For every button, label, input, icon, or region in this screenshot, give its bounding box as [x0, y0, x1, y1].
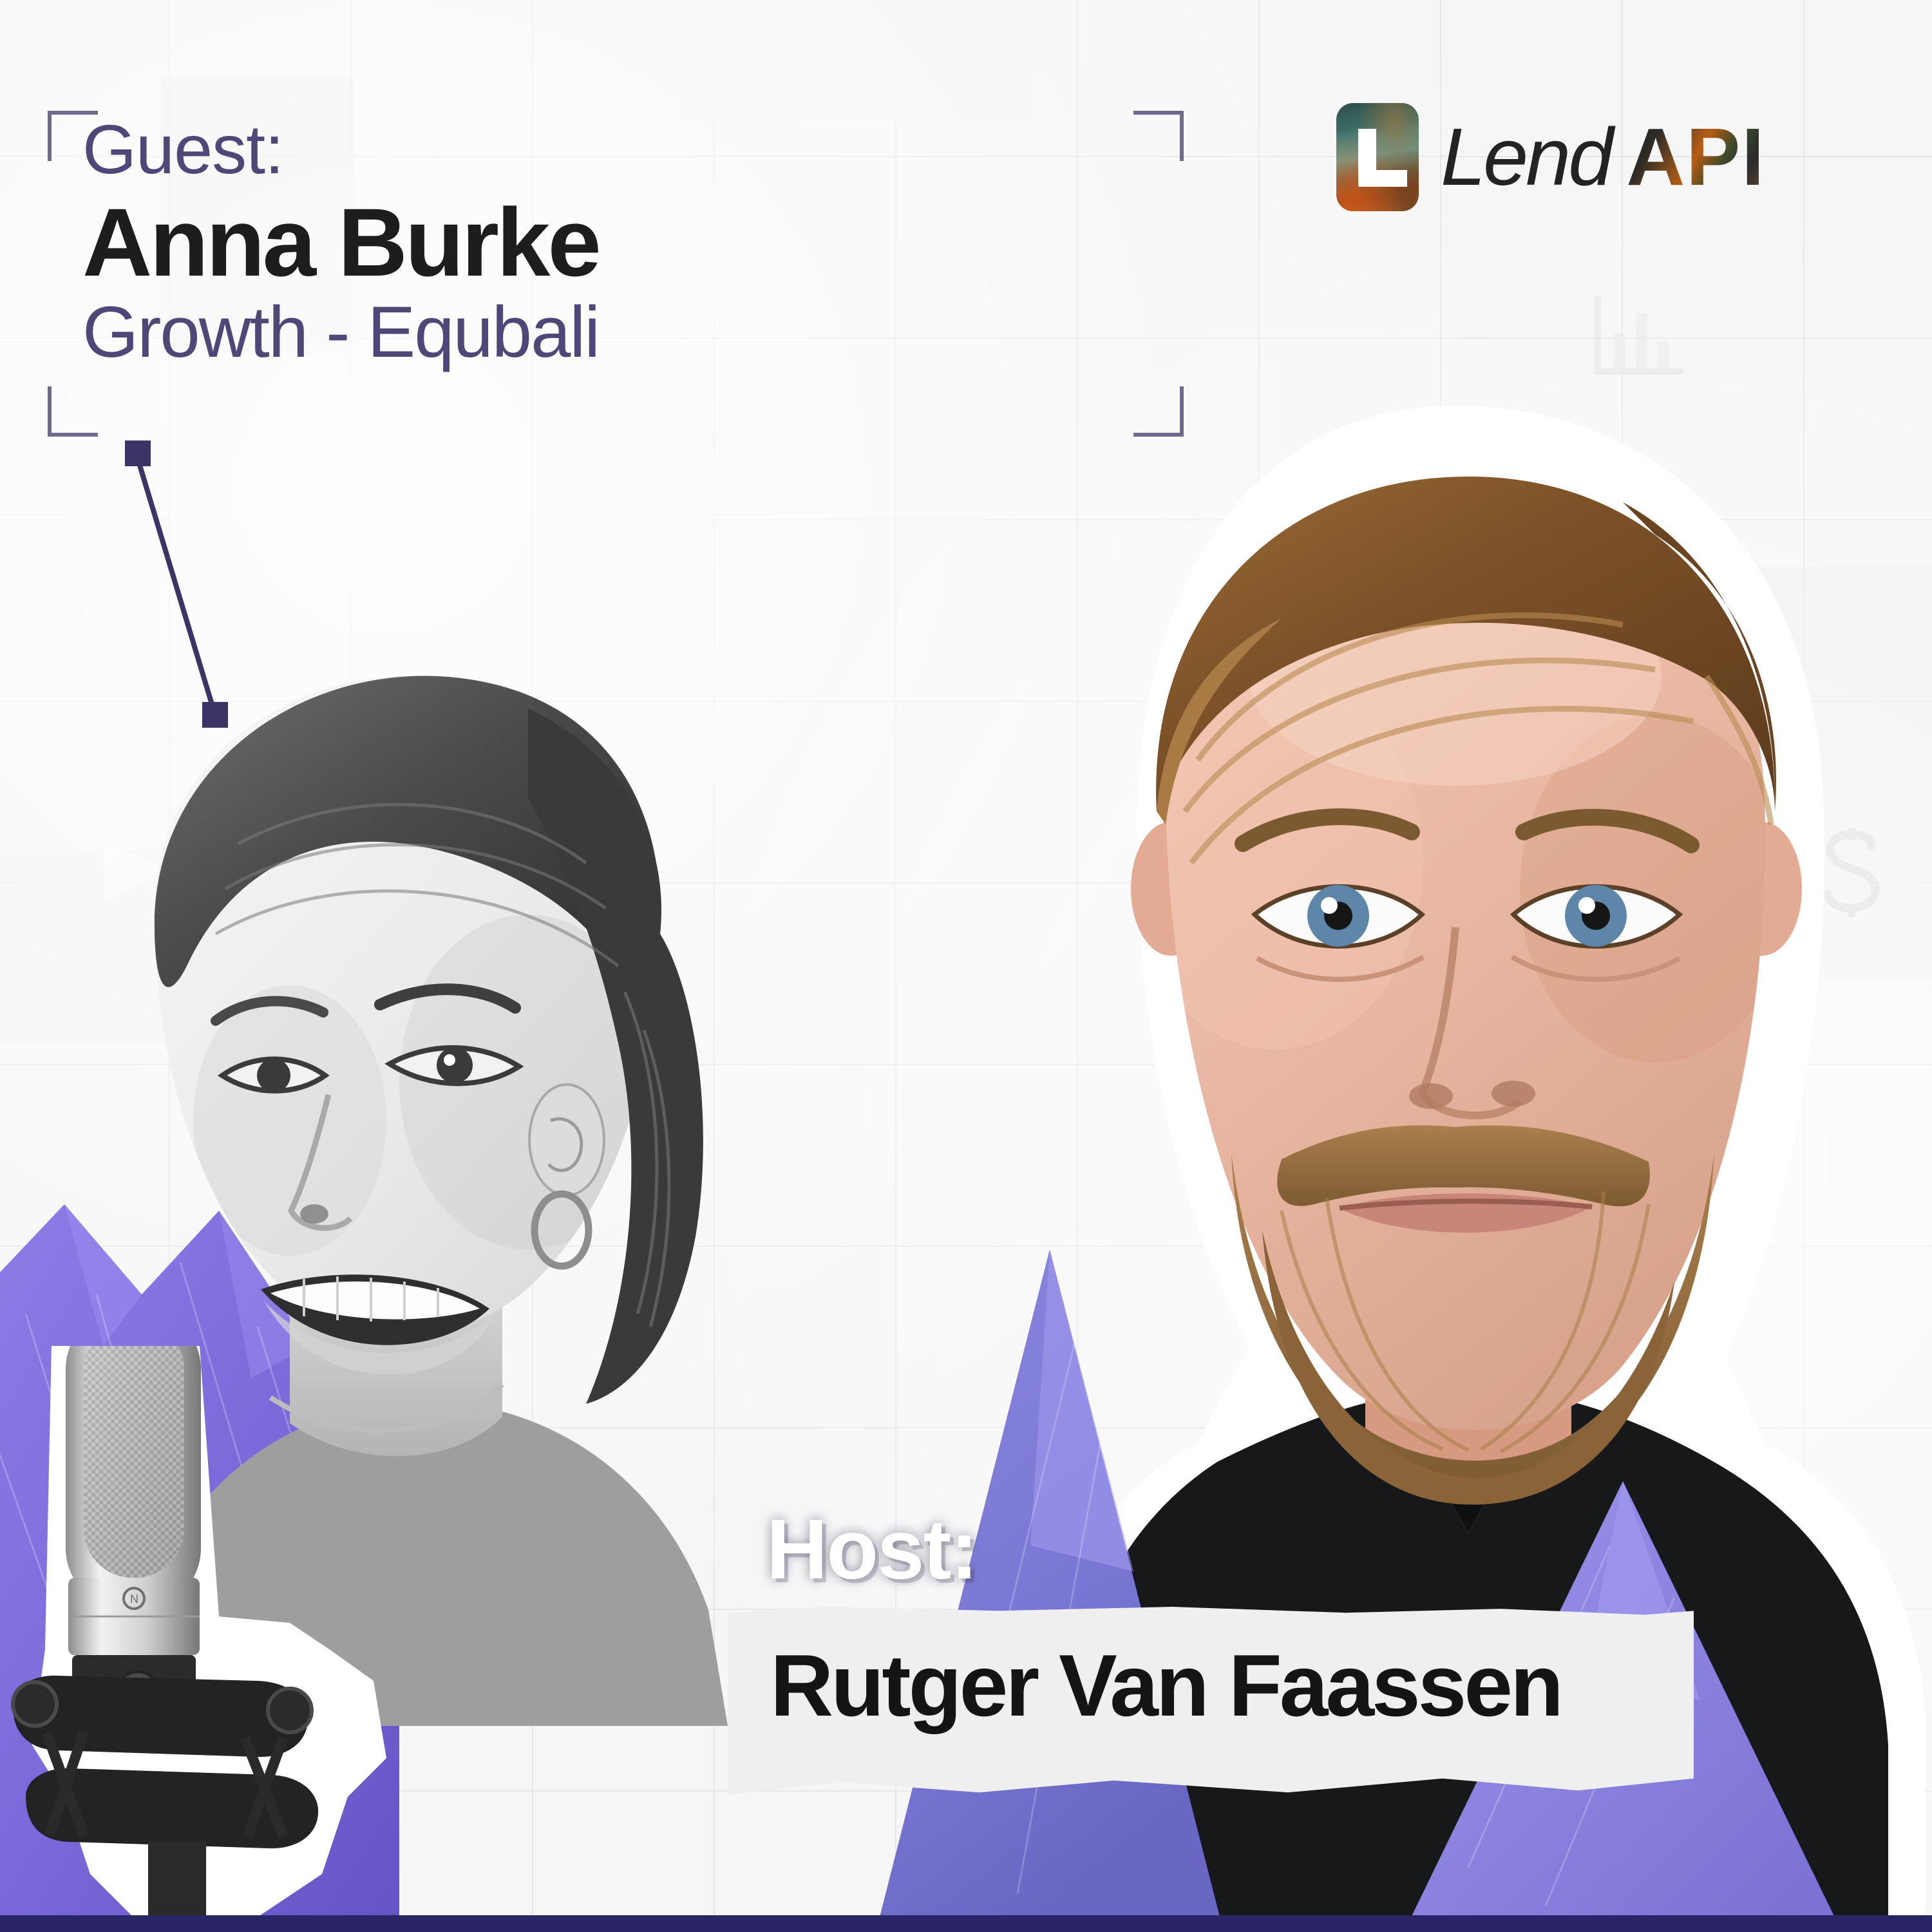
host-name-banner: Rutger Van Faassen [728, 1607, 1694, 1806]
host-label: Host: [766, 1501, 977, 1598]
guest-name: Anna Burke [82, 193, 1144, 292]
lendapi-logo[interactable]: Lend API [1336, 103, 1765, 211]
guest-role: Growth - Equbali [82, 296, 1144, 369]
condenser-microphone: N [0, 1346, 425, 1932]
svg-text:N: N [130, 1593, 138, 1605]
logo-wordmark: Lend API [1441, 117, 1765, 198]
logo-mark-tile [1336, 103, 1419, 211]
corner-bracket-bottom-left [48, 386, 98, 437]
guest-label: Guest: [82, 115, 1144, 184]
host-name: Rutger Van Faassen [770, 1642, 1561, 1729]
logo-word-api: API [1626, 117, 1765, 198]
guest-info-block: Guest: Anna Burke Growth - Equbali [49, 97, 1144, 369]
bottom-accent-strip [0, 1915, 1932, 1932]
podcast-episode-cover: Guest: Anna Burke Growth - Equbali Lend … [0, 0, 1932, 1932]
bar-chart-icon [1591, 296, 1687, 386]
logo-word-lend: Lend [1441, 117, 1611, 198]
